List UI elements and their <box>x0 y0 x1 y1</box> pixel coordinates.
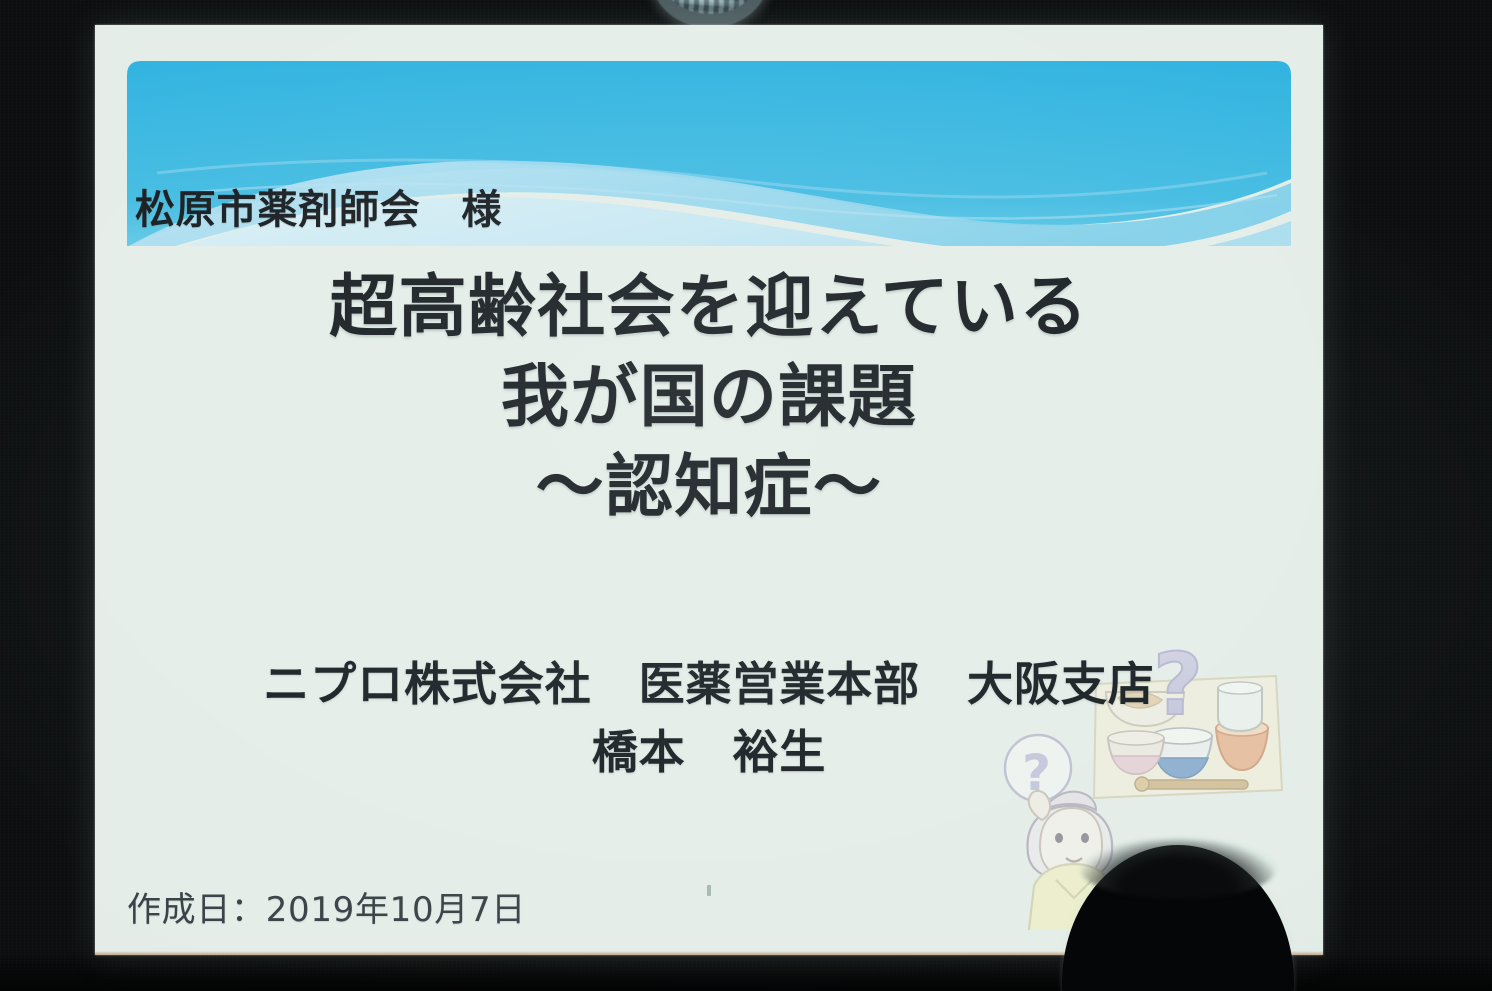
creation-date-label: 作成日：2019年10月7日 <box>127 882 526 931</box>
projected-slide: 松原市薬剤師会 様 超高齢社会を迎えている 我が国の課題 ～認知症～ ニプロ株式… <box>95 25 1323 955</box>
slide-byline-block: ニプロ株式会社 医薬営業本部 大阪支店 橋本 裕生 <box>95 650 1323 786</box>
slide-speck-artifact <box>707 885 711 896</box>
hair-rim-light <box>1080 839 1276 899</box>
title-line-1: 超高齢社会を迎えている <box>95 263 1323 353</box>
audience-head-silhouette <box>1062 845 1294 991</box>
byline-company: ニプロ株式会社 医薬営業本部 大阪支店 <box>95 650 1323 718</box>
photo-scene: 松原市薬剤師会 様 超高齢社会を迎えている 我が国の課題 ～認知症～ ニプロ株式… <box>0 0 1492 991</box>
slide-title-block: 超高齢社会を迎えている 我が国の課題 ～認知症～ <box>95 263 1323 532</box>
byline-presenter: 橋本 裕生 <box>95 718 1323 786</box>
title-line-2: 我が国の課題 <box>95 353 1323 443</box>
title-line-3: ～認知症～ <box>95 443 1323 533</box>
client-name-label: 松原市薬剤師会 様 <box>135 177 502 235</box>
